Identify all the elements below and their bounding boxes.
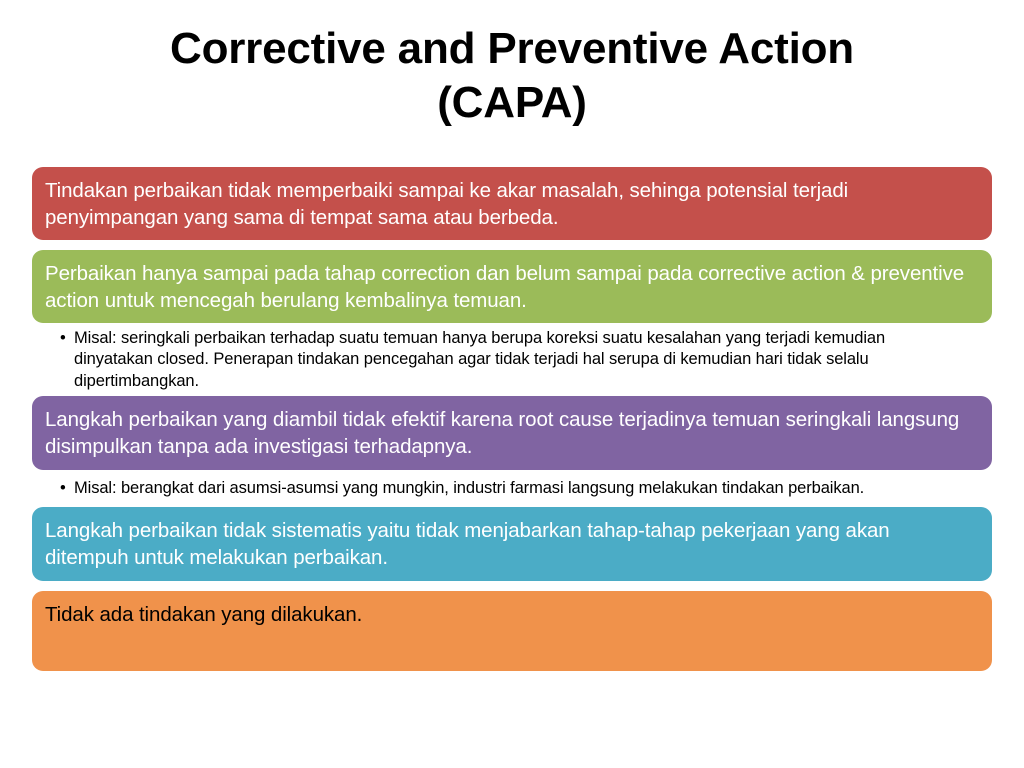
spacer-teal-orange [32, 581, 992, 591]
bullet-text: Misal: berangkat dari asumsi-asumsi yang… [74, 479, 864, 497]
slide-canvas: Corrective and Preventive Action (CAPA) … [0, 0, 1024, 768]
band-red-text: Tindakan perbaikan tidak memperbaiki sam… [45, 179, 848, 229]
band-purple-text: Langkah perbaikan yang diambil tidak efe… [45, 408, 959, 458]
bullet-list-after-purple: • Misal: berangkat dari asumsi-asumsi ya… [32, 470, 992, 506]
page-title-line-2: (CAPA) [0, 76, 1024, 130]
band-green: Perbaikan hanya sampai pada tahap correc… [32, 250, 992, 323]
page-title-line-1: Corrective and Preventive Action [0, 22, 1024, 76]
band-teal-text: Langkah perbaikan tidak sistematis yaitu… [45, 519, 890, 569]
band-teal: Langkah perbaikan tidak sistematis yaitu… [32, 507, 992, 581]
bullet-list-after-green: • Misal: seringkali perbaikan terhadap s… [32, 323, 992, 396]
bullet-text: Misal: seringkali perbaikan terhadap sua… [74, 329, 885, 390]
spacer-red-green [32, 240, 992, 250]
band-orange-text: Tidak ada tindakan yang dilakukan. [45, 603, 362, 626]
band-red: Tindakan perbaikan tidak memperbaiki sam… [32, 167, 992, 240]
band-purple: Langkah perbaikan yang diambil tidak efe… [32, 396, 992, 470]
band-green-text: Perbaikan hanya sampai pada tahap correc… [45, 262, 964, 312]
content-stack: Tindakan perbaikan tidak memperbaiki sam… [32, 167, 992, 671]
page-title: Corrective and Preventive Action (CAPA) [0, 22, 1024, 129]
list-item: • Misal: seringkali perbaikan terhadap s… [58, 328, 966, 392]
bullet-dot-icon: • [60, 478, 66, 499]
bullet-dot-icon: • [60, 328, 66, 349]
band-orange: Tidak ada tindakan yang dilakukan. [32, 591, 992, 671]
list-item: • Misal: berangkat dari asumsi-asumsi ya… [58, 478, 966, 499]
